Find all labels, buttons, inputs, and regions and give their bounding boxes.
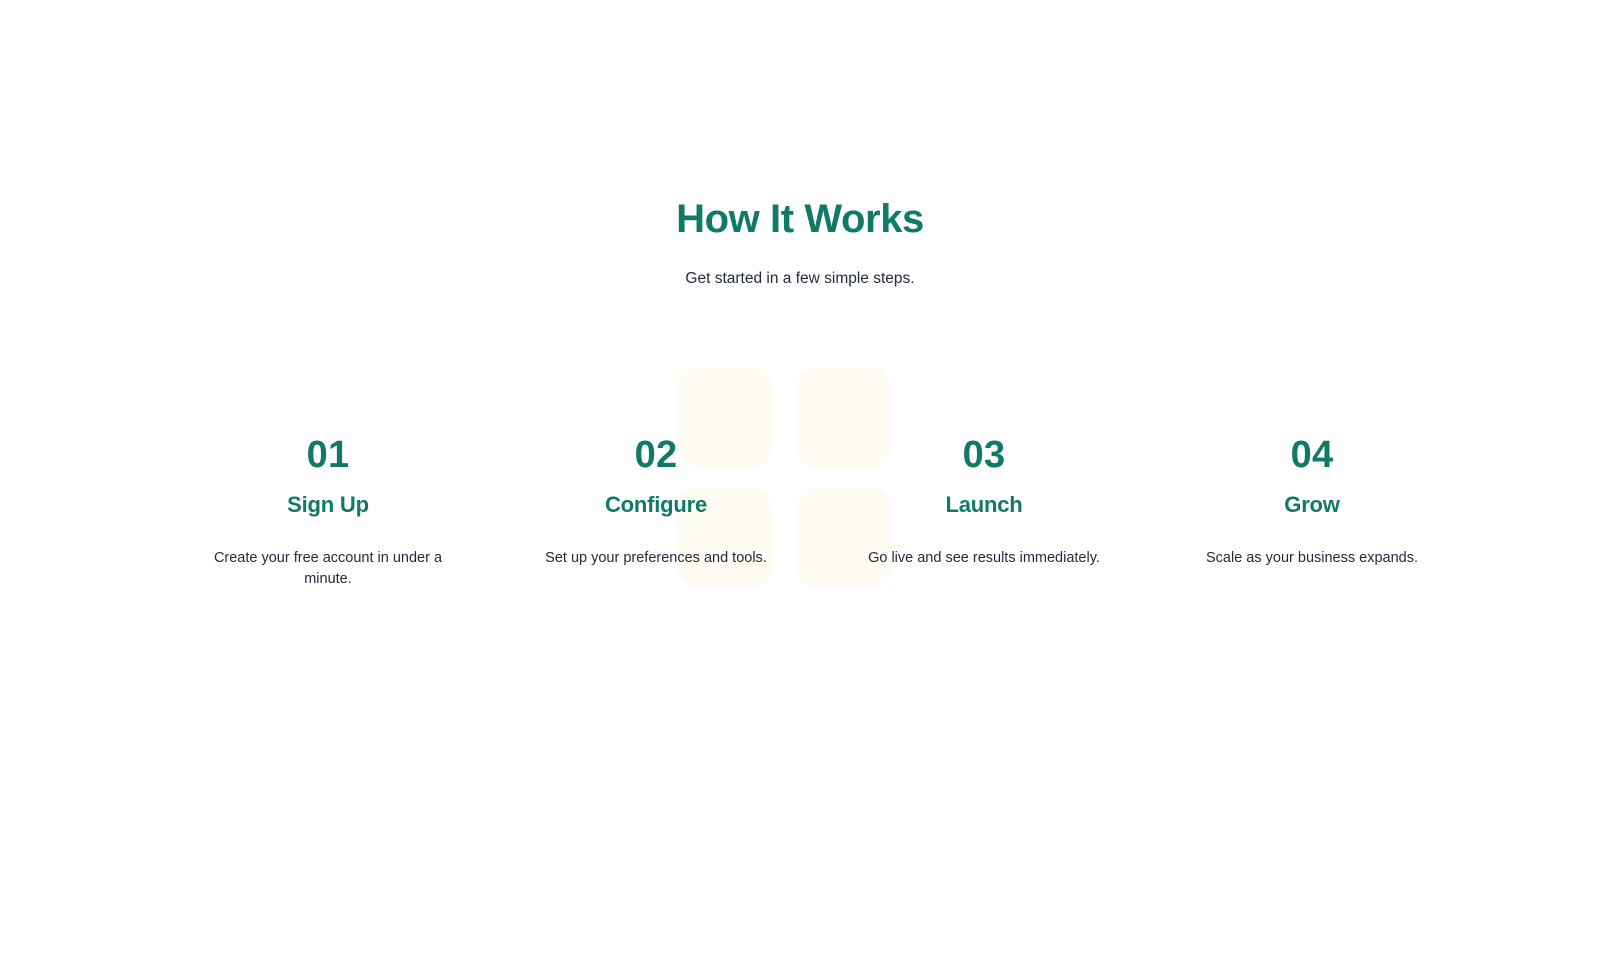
step-number: 01 [307, 432, 350, 478]
step-number: 02 [635, 432, 678, 478]
step-item-4: 04 Grow Scale as your business expands. [1160, 432, 1464, 569]
step-title: Launch [945, 491, 1022, 518]
step-number: 03 [963, 432, 1006, 478]
step-title: Grow [1284, 491, 1339, 518]
step-title: Configure [605, 491, 707, 518]
step-description: Go live and see results immediately. [868, 548, 1100, 569]
section-title: How It Works [0, 196, 1600, 242]
section-subtitle: Get started in a few simple steps. [0, 268, 1600, 290]
step-item-1: 01 Sign Up Create your free account in u… [176, 432, 480, 590]
step-item-3: 03 Launch Go live and see results immedi… [832, 432, 1136, 569]
how-it-works-section: How It Works Get started in a few simple… [0, 0, 1600, 978]
step-title: Sign Up [287, 491, 369, 518]
step-number: 04 [1291, 432, 1334, 478]
step-item-2: 02 Configure Set up your preferences and… [504, 432, 808, 569]
step-description: Create your free account in under a minu… [212, 548, 444, 590]
step-description: Set up your preferences and tools. [545, 548, 767, 569]
step-description: Scale as your business expands. [1206, 548, 1418, 569]
steps-list: 01 Sign Up Create your free account in u… [176, 432, 1464, 590]
